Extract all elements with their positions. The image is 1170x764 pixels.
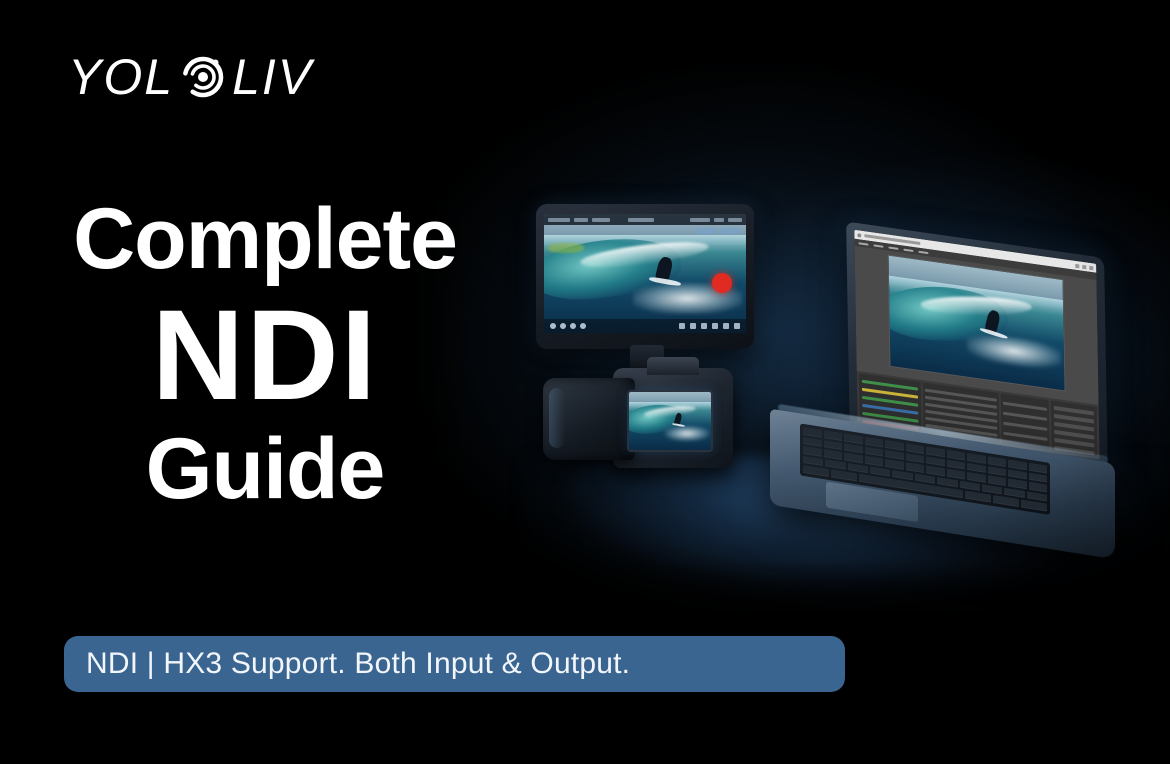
app-icon	[857, 233, 861, 238]
logo-text-left: YOL	[68, 52, 174, 102]
headline-block: Complete NDI Guide	[0, 196, 530, 512]
headline-line-3: Guide	[0, 426, 530, 512]
toolbar-dot-icon[interactable]	[580, 323, 586, 329]
headline-line-2: NDI	[0, 292, 530, 420]
logo-text-right: LIV	[232, 52, 313, 102]
surf-footage	[629, 392, 711, 450]
monitor-mode-tags	[697, 228, 740, 234]
toolbar-dot-icon[interactable]	[550, 323, 556, 329]
close-icon[interactable]	[1089, 265, 1093, 270]
camera-lens-icon	[177, 51, 229, 103]
field-monitor	[536, 204, 754, 349]
monitor-toolbar[interactable]	[544, 319, 746, 333]
volume-icon[interactable]	[712, 323, 718, 329]
minimize-icon[interactable]	[1075, 263, 1079, 268]
footage-foam	[665, 426, 709, 441]
camera-lens	[543, 378, 635, 460]
share-icon[interactable]	[690, 323, 696, 329]
gear-icon[interactable]	[701, 323, 707, 329]
fullscreen-icon[interactable]	[734, 323, 740, 329]
yololiv-logo[interactable]: YOL LIV	[68, 46, 313, 108]
camera-lcd-screen	[627, 390, 713, 452]
menu-item[interactable]	[858, 242, 868, 245]
surf-footage	[888, 256, 1064, 391]
menu-item[interactable]	[918, 250, 928, 253]
menu-item[interactable]	[888, 246, 898, 249]
toolbar-dot-icon[interactable]	[570, 323, 576, 329]
headline-line-1: Complete	[0, 196, 530, 282]
dslr-camera	[543, 362, 733, 474]
ndi-guide-banner: MacBook Air YOL	[0, 0, 1170, 764]
menu-item[interactable]	[903, 248, 913, 251]
feature-banner: NDI | HX3 Support. Both Input & Output.	[64, 636, 845, 692]
toolbar-dot-icon[interactable]	[560, 323, 566, 329]
feature-banner-text: NDI | HX3 Support. Both Input & Output.	[86, 647, 630, 681]
monitor-status-bar	[544, 214, 746, 225]
menu-item[interactable]	[873, 244, 883, 247]
record-icon[interactable]	[679, 323, 685, 329]
macbook-air-laptop: MacBook Air	[770, 240, 1115, 550]
record-indicator-icon[interactable]	[712, 273, 732, 293]
maximize-icon[interactable]	[1082, 264, 1086, 269]
camera-viewfinder-hump	[647, 357, 699, 375]
monitor-screen	[544, 214, 746, 333]
program-preview	[888, 256, 1064, 391]
grid-icon[interactable]	[723, 323, 729, 329]
footage-shore	[548, 243, 584, 254]
